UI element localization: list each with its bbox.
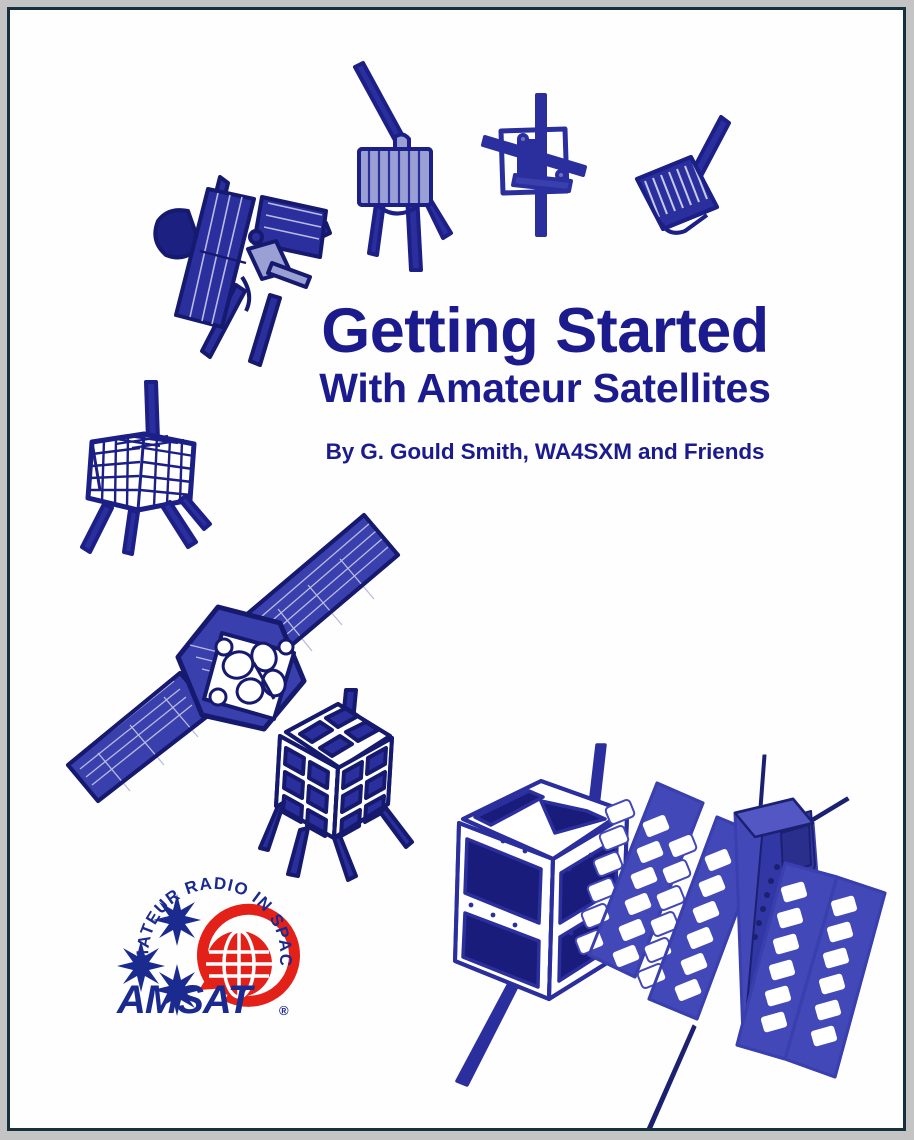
page-title: Getting Started <box>200 300 890 362</box>
registered-trademark-mark: ® <box>279 1003 289 1018</box>
cover-page: Getting Started With Amateur Satellites … <box>10 10 903 1128</box>
cover-frame: Getting Started With Amateur Satellites … <box>7 7 906 1131</box>
byline: By G. Gould Smith, WA4SXM and Friends <box>200 439 890 465</box>
book-cover: Getting Started With Amateur Satellites … <box>0 0 914 1140</box>
page-subtitle: With Amateur Satellites <box>200 364 890 412</box>
amsat-logo: AMATEUR RADIO IN SPACE AMSAT ® <box>115 872 330 1032</box>
satellite-checkerboard-cube <box>260 690 430 880</box>
satellite-hatched-panel <box>625 95 750 240</box>
satellite-small-box <box>475 95 600 235</box>
title-block: Getting Started With Amateur Satellites … <box>200 300 890 465</box>
satellite-deployed-solar-array <box>585 755 906 1130</box>
amsat-wordmark: AMSAT <box>117 980 251 1020</box>
